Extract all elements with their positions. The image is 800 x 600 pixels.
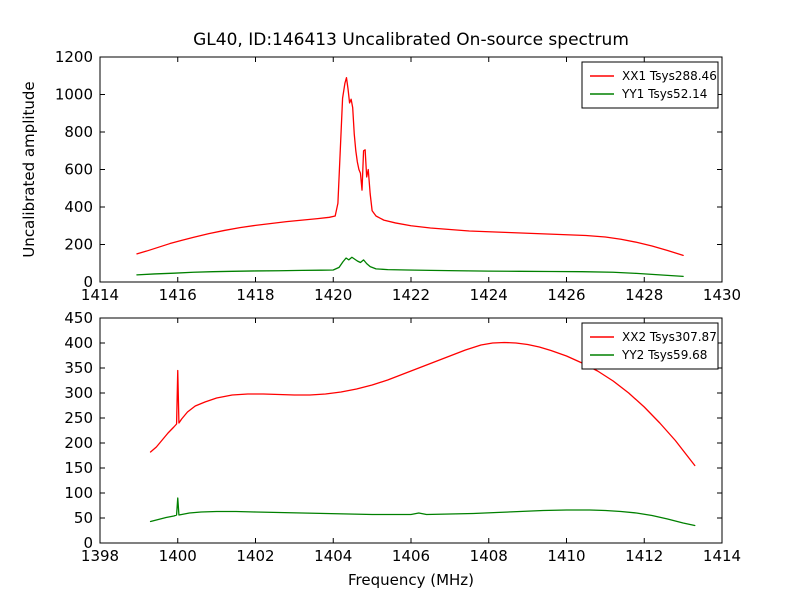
legend-label: XX2 Tsys307.87 [622, 330, 717, 344]
y-tick-label: 100 [64, 484, 93, 502]
y-tick-label: 150 [64, 459, 93, 477]
y-tick-label: 450 [64, 309, 93, 327]
x-tick-label: 1412 [625, 547, 663, 565]
x-tick-label: 1414 [703, 547, 741, 565]
y-tick-label: 800 [64, 123, 93, 141]
y-tick-label: 250 [64, 409, 93, 427]
x-tick-label: 1404 [314, 547, 352, 565]
y-tick-label: 0 [83, 273, 93, 291]
x-tick-label: 1406 [392, 547, 430, 565]
y-axis-label: Uncalibrated amplitude [20, 81, 38, 257]
x-tick-label: 1428 [625, 286, 663, 304]
legend-label: XX1 Tsys288.46 [622, 69, 717, 83]
y-tick-label: 350 [64, 359, 93, 377]
x-tick-label: 1424 [470, 286, 508, 304]
legend-label: YY1 Tsys52.14 [621, 87, 707, 101]
x-tick-label: 1430 [703, 286, 741, 304]
y-tick-label: 50 [74, 509, 93, 527]
x-tick-label: 1418 [236, 286, 274, 304]
y-tick-label: 1200 [55, 48, 93, 66]
y-tick-label: 0 [83, 534, 93, 552]
x-tick-label: 1410 [547, 547, 585, 565]
x-tick-label: 1400 [159, 547, 197, 565]
y-tick-label: 200 [64, 236, 93, 254]
y-tick-label: 400 [64, 334, 93, 352]
y-tick-label: 1000 [55, 86, 93, 104]
x-tick-label: 1420 [314, 286, 352, 304]
x-tick-label: 1416 [159, 286, 197, 304]
x-tick-label: 1426 [547, 286, 585, 304]
x-tick-label: 1422 [392, 286, 430, 304]
legend-label: YY2 Tsys59.68 [621, 348, 707, 362]
y-tick-label: 200 [64, 434, 93, 452]
y-tick-label: 600 [64, 161, 93, 179]
y-tick-label: 400 [64, 198, 93, 216]
x-tick-label: 1402 [236, 547, 274, 565]
y-tick-label: 300 [64, 384, 93, 402]
figure-canvas: 1414141614181420142214241426142814300200… [0, 0, 800, 600]
spectrum-figure: 1414141614181420142214241426142814300200… [0, 0, 800, 600]
x-tick-label: 1408 [470, 547, 508, 565]
x-axis-label: Frequency (MHz) [348, 571, 474, 589]
chart-title: GL40, ID:146413 Uncalibrated On-source s… [193, 30, 629, 50]
